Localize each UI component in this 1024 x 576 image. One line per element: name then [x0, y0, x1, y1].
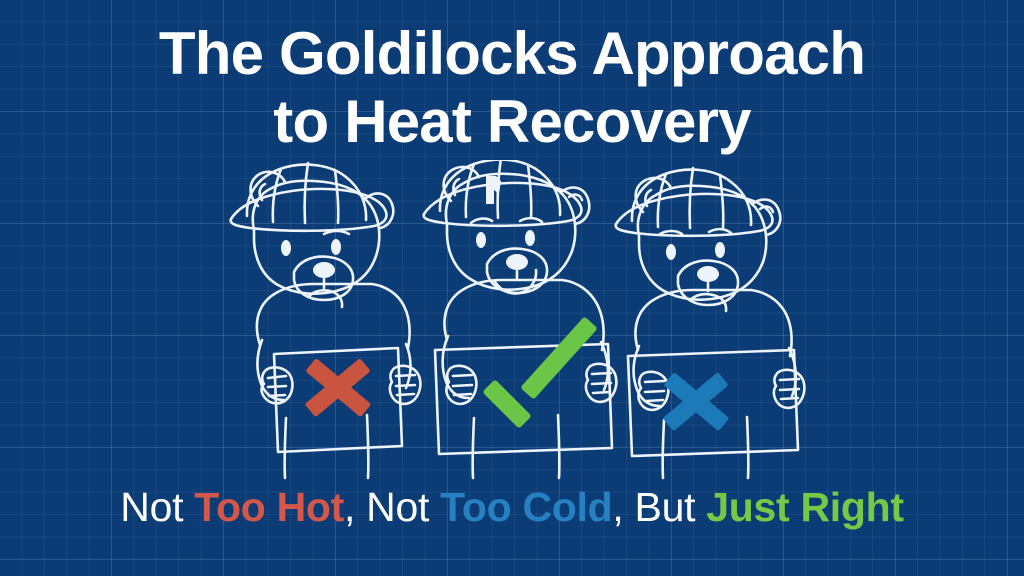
- page-title: The Goldilocks Approach to Heat Recovery: [0, 20, 1024, 157]
- title-line-1: The Goldilocks Approach: [0, 20, 1024, 88]
- cross-icon-red: [305, 358, 372, 417]
- bear-too-hot: [231, 163, 421, 478]
- subtitle-segment-0: Not: [120, 484, 194, 530]
- bears-illustration: [190, 160, 834, 480]
- subtitle-segment-too-hot: Too Hot: [194, 484, 344, 530]
- title-line-2: to Heat Recovery: [0, 88, 1024, 156]
- subtitle-segment-too-cold: Too Cold: [440, 484, 612, 530]
- slide-canvas: The Goldilocks Approach to Heat Recovery: [0, 0, 1024, 576]
- bear-too-cold: [616, 168, 805, 478]
- subtitle: Not Too Hot, Not Too Cold, But Just Righ…: [0, 487, 1024, 528]
- cross-icon-blue: [663, 372, 730, 431]
- subtitle-segment-4: , But: [612, 484, 706, 530]
- subtitle-segment-2: , Not: [344, 484, 440, 530]
- checkmark-icon-green: [482, 316, 598, 428]
- subtitle-segment-just-right: Just Right: [706, 484, 903, 530]
- bear-just-right: [424, 160, 617, 478]
